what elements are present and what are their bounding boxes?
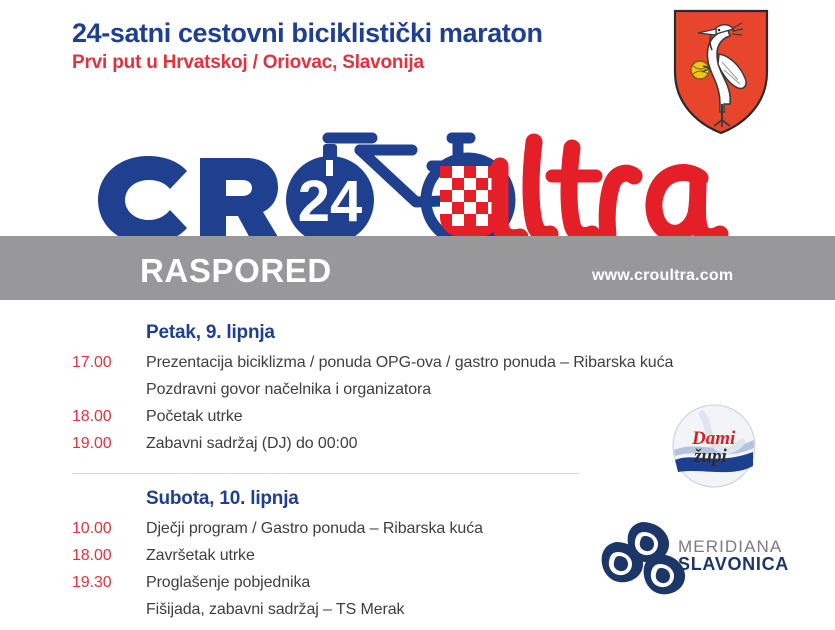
page-title: 24-satni cestovni biciklistički maraton xyxy=(72,18,662,48)
schedule-row: Pozdravni govor načelnika i organizatora xyxy=(72,376,672,403)
poster-root: 24-satni cestovni biciklistički maraton … xyxy=(0,0,835,630)
schedule-row: 19.00 Zabavni sadržaj (DJ) do 00:00 xyxy=(72,430,672,457)
sponsor-logo-dami-zupi: Dami župi xyxy=(672,404,756,488)
row-text: Završetak utrke xyxy=(146,542,255,569)
schedule-row: 10.00 Dječji program / Gastro ponuda – R… xyxy=(72,515,672,542)
row-text: Zabavni sadržaj (DJ) do 00:00 xyxy=(146,430,357,457)
row-time: 10.00 xyxy=(72,515,146,542)
meridiana-shield-icon xyxy=(602,522,685,594)
logo-text-cro xyxy=(98,156,281,244)
sponsor-meridiana-text: MERIDIANA SLAVONICA xyxy=(678,538,789,574)
page-subtitle: Prvi put u Hrvatskoj / Oriovac, Slavonij… xyxy=(72,52,662,74)
row-text: Dječji program / Gastro ponuda – Ribarsk… xyxy=(146,515,483,542)
schedule-row: Fišijada, zabavni sadržaj – TS Merak xyxy=(72,596,672,623)
day-title: Petak, 9. lipnja xyxy=(146,322,672,344)
row-time: 17.00 xyxy=(72,349,146,376)
row-text: Početak utrke xyxy=(146,403,243,430)
schedule: Petak, 9. lipnja 17.00 Prezentacija bici… xyxy=(72,322,672,625)
schedule-row: 18.00 Završetak utrke xyxy=(72,542,672,569)
schedule-row: 19.30 Proglašenje pobjednika xyxy=(72,569,672,596)
day-title: Subota, 10. lipnja xyxy=(146,488,672,510)
row-text: Prezentacija biciklizma / ponuda OPG-ova… xyxy=(146,349,673,376)
row-time: 18.00 xyxy=(72,542,146,569)
sponsor-zupi-label: župi xyxy=(693,446,727,467)
schedule-row: 17.00 Prezentacija biciklizma / ponuda O… xyxy=(72,349,672,376)
row-time: 18.00 xyxy=(72,403,146,430)
row-text: Pozdravni govor načelnika i organizatora xyxy=(146,376,431,403)
website-url[interactable]: www.croultra.com xyxy=(592,267,733,285)
row-time: 19.00 xyxy=(72,430,146,457)
schedule-row: 18.00 Početak utrke xyxy=(72,403,672,430)
schedule-day-friday: Petak, 9. lipnja 17.00 Prezentacija bici… xyxy=(72,322,672,457)
sponsor-meridiana-line2: SLAVONICA xyxy=(678,555,789,573)
band-title: RASPORED xyxy=(140,252,332,290)
row-text: Fišijada, zabavni sadržaj – TS Merak xyxy=(146,596,404,623)
schedule-divider xyxy=(72,473,580,474)
row-time: 19.30 xyxy=(72,569,146,596)
row-text: Proglašenje pobjednika xyxy=(146,569,310,596)
schedule-day-saturday: Subota, 10. lipnja 10.00 Dječji program … xyxy=(72,488,672,623)
sponsor-meridiana-line1: MERIDIANA xyxy=(678,538,789,555)
croultra-logo: 24 xyxy=(60,104,780,244)
header: 24-satni cestovni biciklistički maraton … xyxy=(72,18,662,74)
logo-24-label: 24 xyxy=(298,169,363,234)
